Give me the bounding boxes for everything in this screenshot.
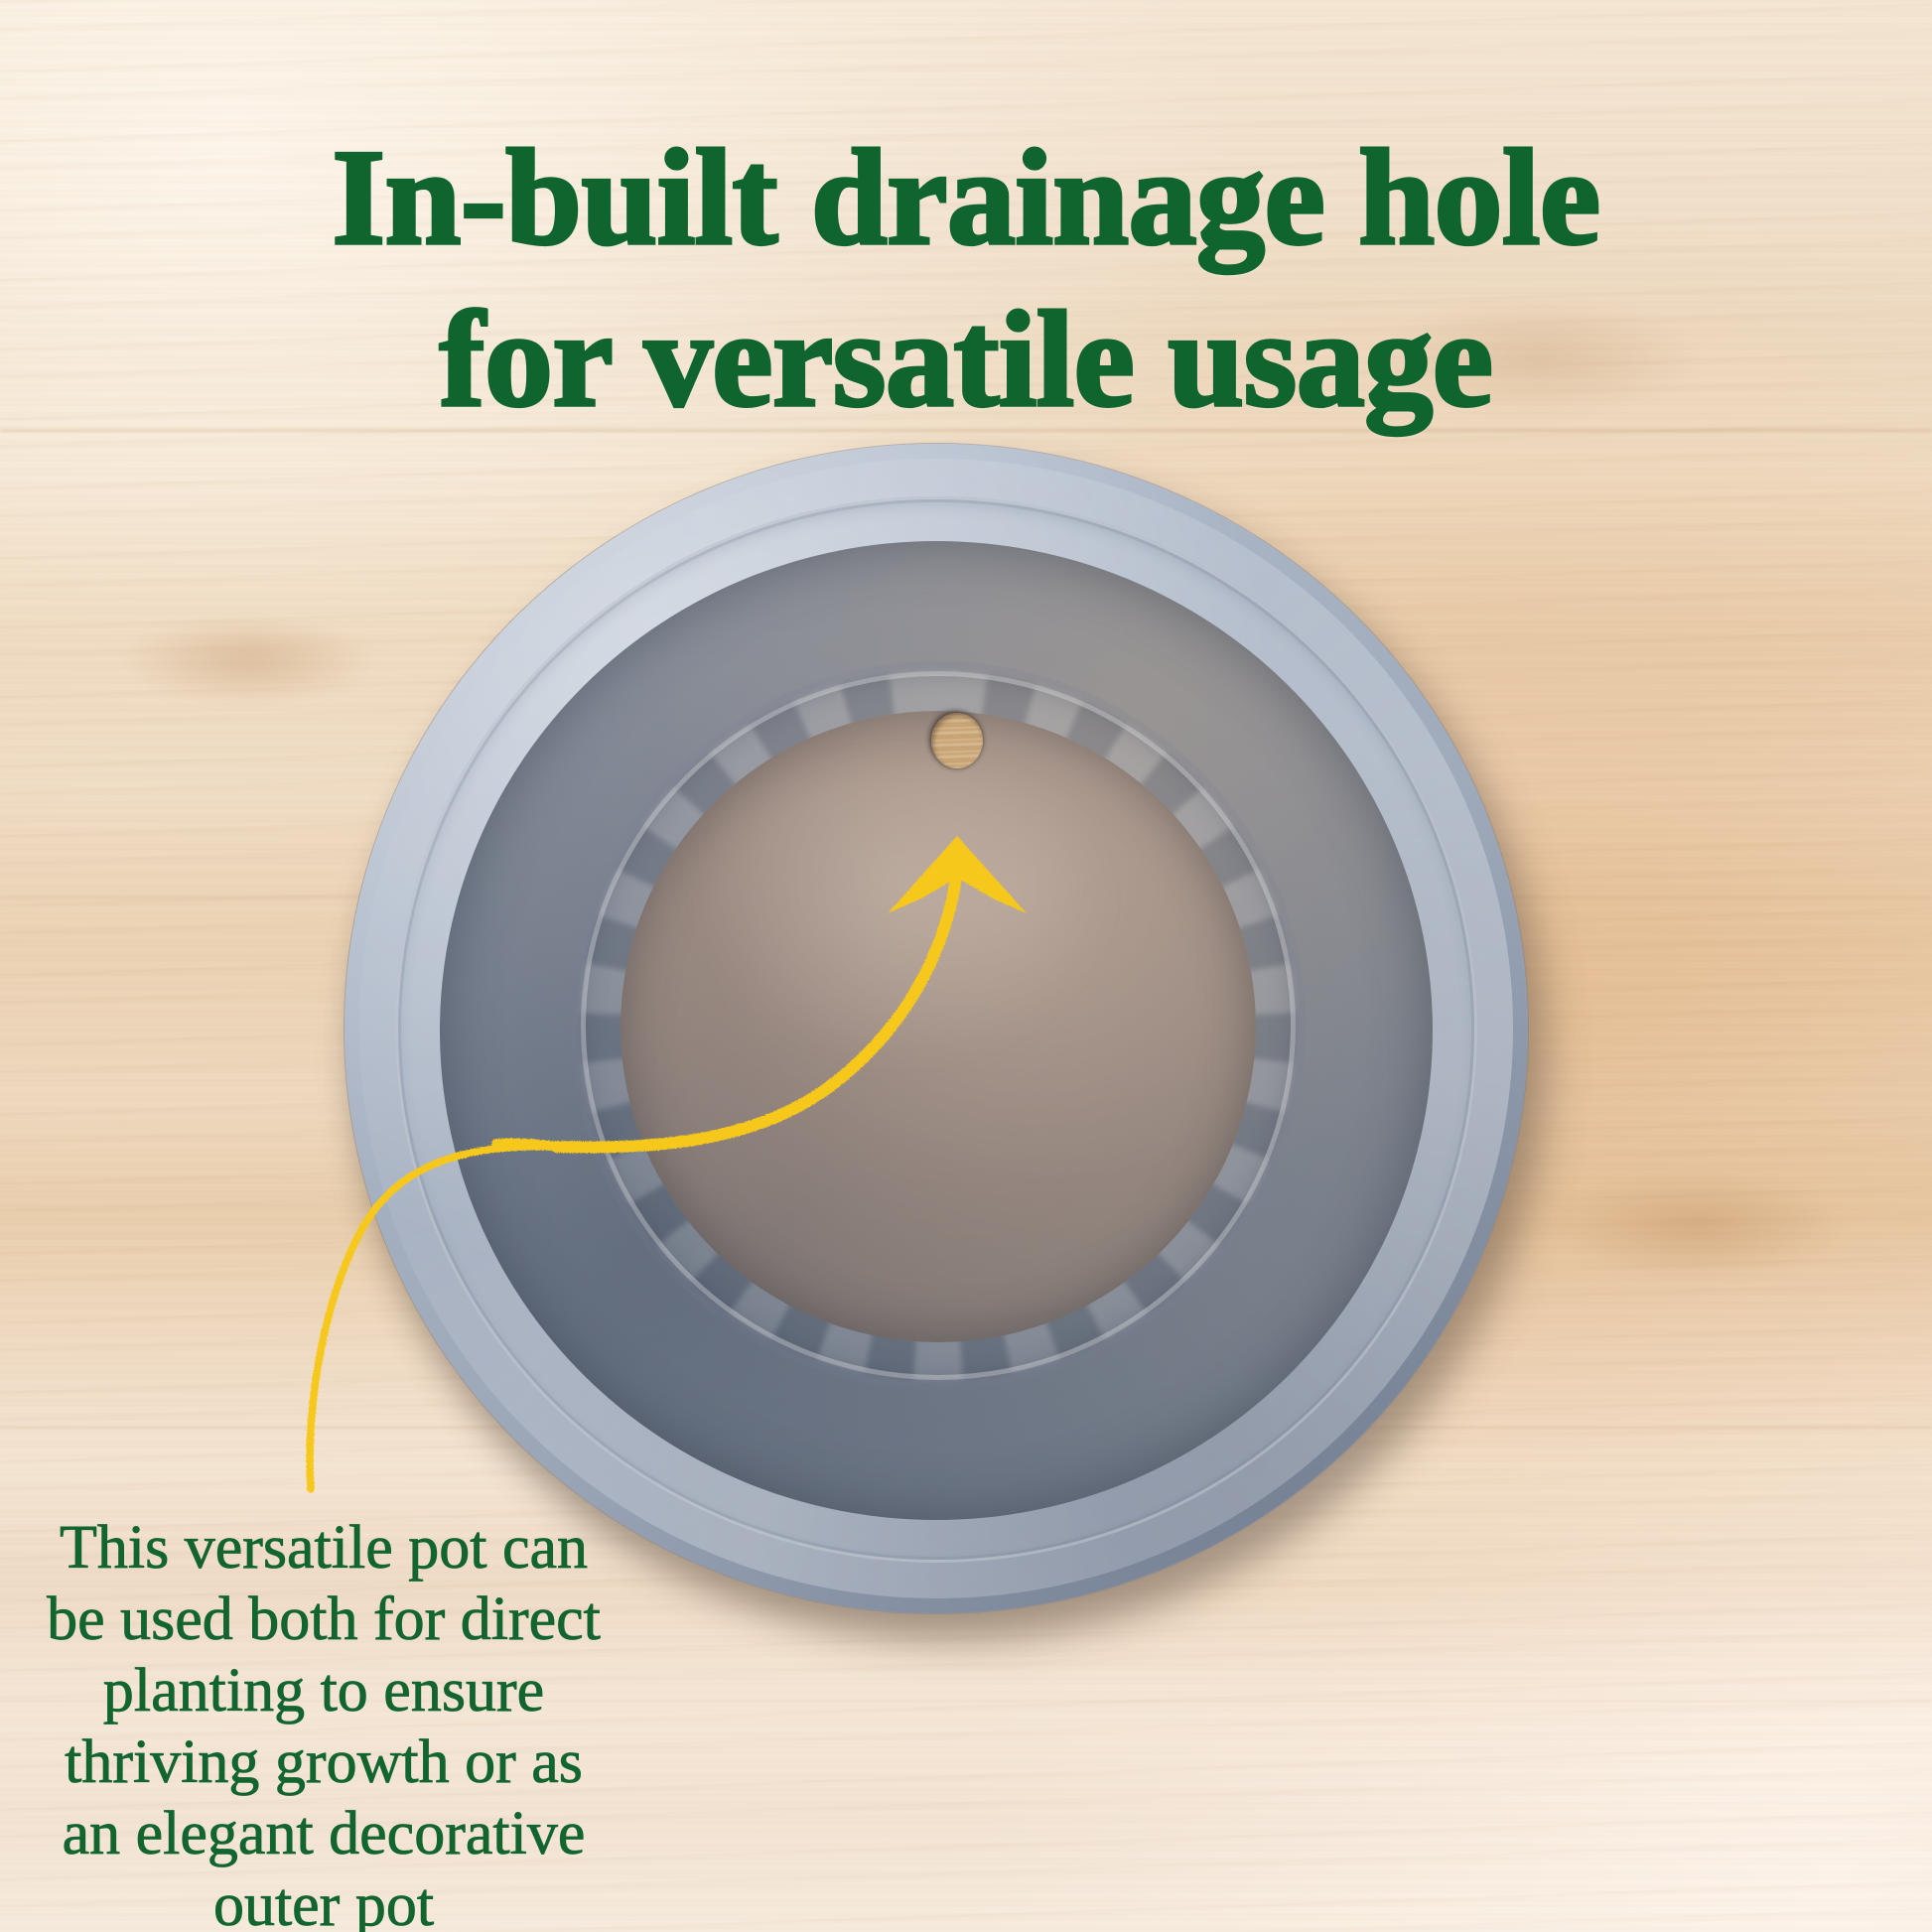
page-title: In-built drainage hole for versatile usa… <box>0 117 1932 441</box>
caption-line-6: outer pot <box>26 1870 621 1932</box>
caption-line-3: planting to ensure <box>26 1656 621 1727</box>
caption-line-2: be used both for direct <box>26 1585 621 1656</box>
product-feature-image: In-built drainage hole for versatile usa… <box>0 0 1932 1932</box>
headline-line-1: In-built drainage hole <box>0 117 1932 279</box>
feature-caption: This versatile pot can be used both for … <box>26 1513 621 1932</box>
drainage-hole <box>931 713 983 768</box>
caption-line-1: This versatile pot can <box>26 1513 621 1585</box>
caption-line-5: an elegant decorative <box>26 1799 621 1870</box>
caption-line-4: thriving growth or as <box>26 1727 621 1799</box>
headline-line-2: for versatile usage <box>0 279 1932 441</box>
pot-floor-sheen <box>695 764 1112 1062</box>
